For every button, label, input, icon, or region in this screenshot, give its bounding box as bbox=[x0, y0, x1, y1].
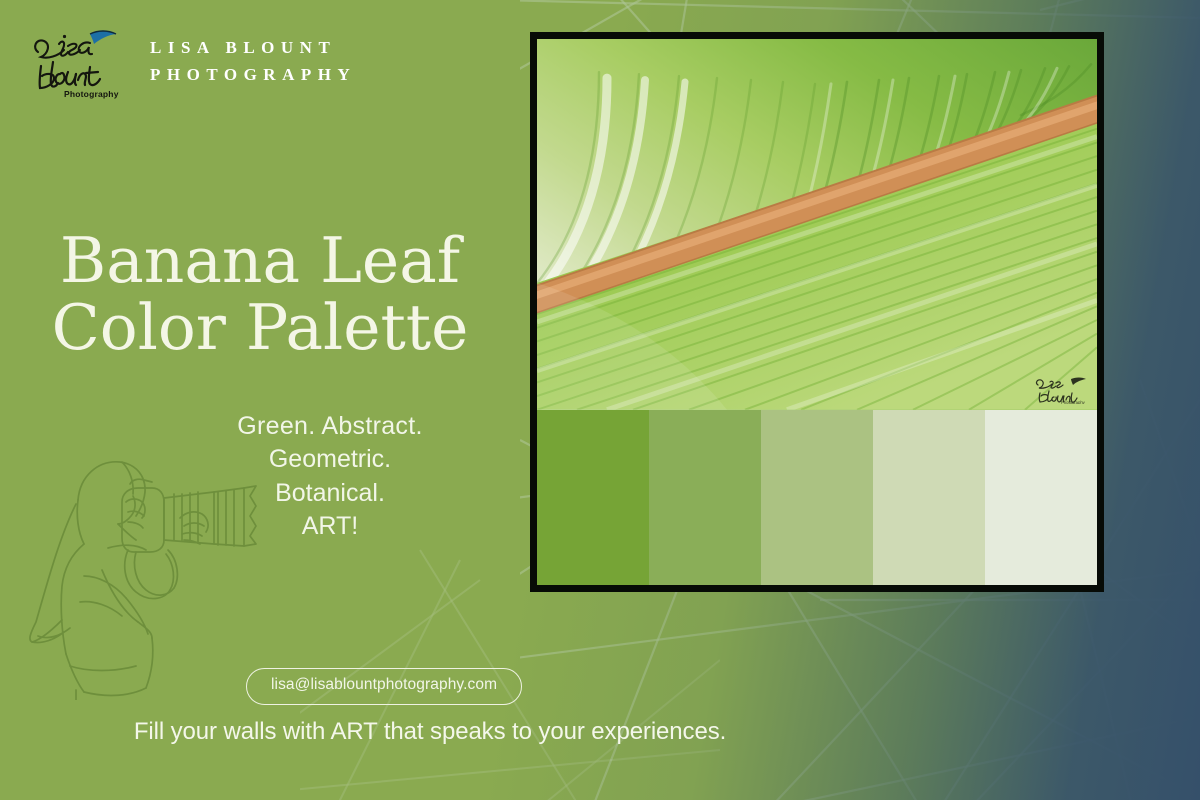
palette-swatch-5[interactable] bbox=[985, 410, 1097, 585]
footer-tagline: Fill your walls with ART that speaks to … bbox=[0, 718, 860, 746]
svg-text:Photography: Photography bbox=[1061, 400, 1086, 404]
banana-leaf-photo: Photography bbox=[537, 39, 1097, 410]
subtitle-line-1: Green. Abstract. bbox=[150, 410, 510, 443]
palette-swatch-1[interactable] bbox=[537, 410, 649, 585]
page-title: Banana Leaf Color Palette bbox=[0, 228, 520, 362]
email-contact-pill[interactable]: lisa@lisablountphotography.com bbox=[246, 668, 522, 705]
title-line-1: Banana Leaf bbox=[0, 228, 520, 295]
brand-line-1: LISA BLOUNT bbox=[150, 39, 356, 56]
woman-photographer-icon bbox=[18, 440, 273, 700]
poster-canvas: Photography LISA BLOUNT PHOTOGRAPHY Bana… bbox=[0, 0, 1200, 800]
photo-frame: Photography bbox=[530, 32, 1104, 592]
color-palette-swatches bbox=[537, 410, 1097, 585]
brand-wordmark: LISA BLOUNT PHOTOGRAPHY bbox=[150, 39, 356, 83]
svg-text:Photography: Photography bbox=[64, 89, 119, 99]
palette-swatch-3[interactable] bbox=[761, 410, 873, 585]
brand-header: Photography LISA BLOUNT PHOTOGRAPHY bbox=[28, 22, 356, 100]
title-line-2: Color Palette bbox=[0, 295, 520, 362]
palette-swatch-2[interactable] bbox=[649, 410, 761, 585]
palette-swatch-4[interactable] bbox=[873, 410, 985, 585]
photo-watermark-icon: Photography bbox=[1033, 374, 1087, 404]
brand-line-2: PHOTOGRAPHY bbox=[150, 66, 356, 83]
lisa-blount-script-logo-icon: Photography bbox=[28, 22, 124, 100]
